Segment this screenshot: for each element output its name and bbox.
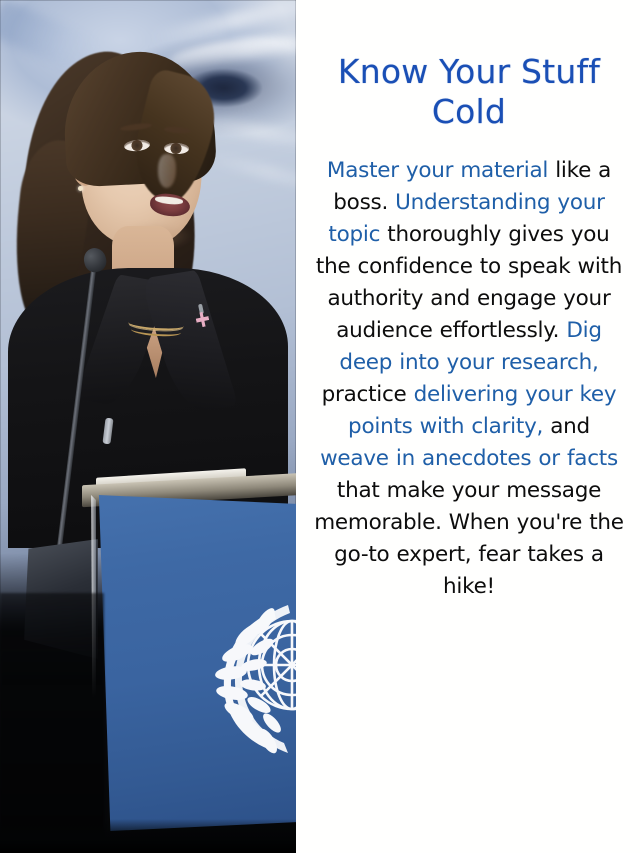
body-segment-9: that make your message memorable. When y… xyxy=(314,478,624,599)
earring xyxy=(78,186,83,191)
podium xyxy=(0,473,296,853)
body-segment-0: Master your material xyxy=(327,158,548,183)
poster-body: Master your material like a boss. Unders… xyxy=(312,155,626,603)
text-panel: Know Your Stuff Cold Master your materia… xyxy=(296,0,640,853)
podium-shadow-bottom xyxy=(0,819,296,853)
poster-card: Know Your Stuff Cold Master your materia… xyxy=(0,0,640,853)
body-segment-5: practice xyxy=(322,382,414,407)
speaker-photo xyxy=(0,0,296,853)
body-segment-7: and xyxy=(543,414,590,439)
poster-title: Know Your Stuff Cold xyxy=(312,52,626,133)
podium-shadow-left xyxy=(0,593,104,853)
united-nations-emblem-icon xyxy=(188,569,296,769)
body-segment-8: weave in anecdotes or facts xyxy=(320,446,618,471)
